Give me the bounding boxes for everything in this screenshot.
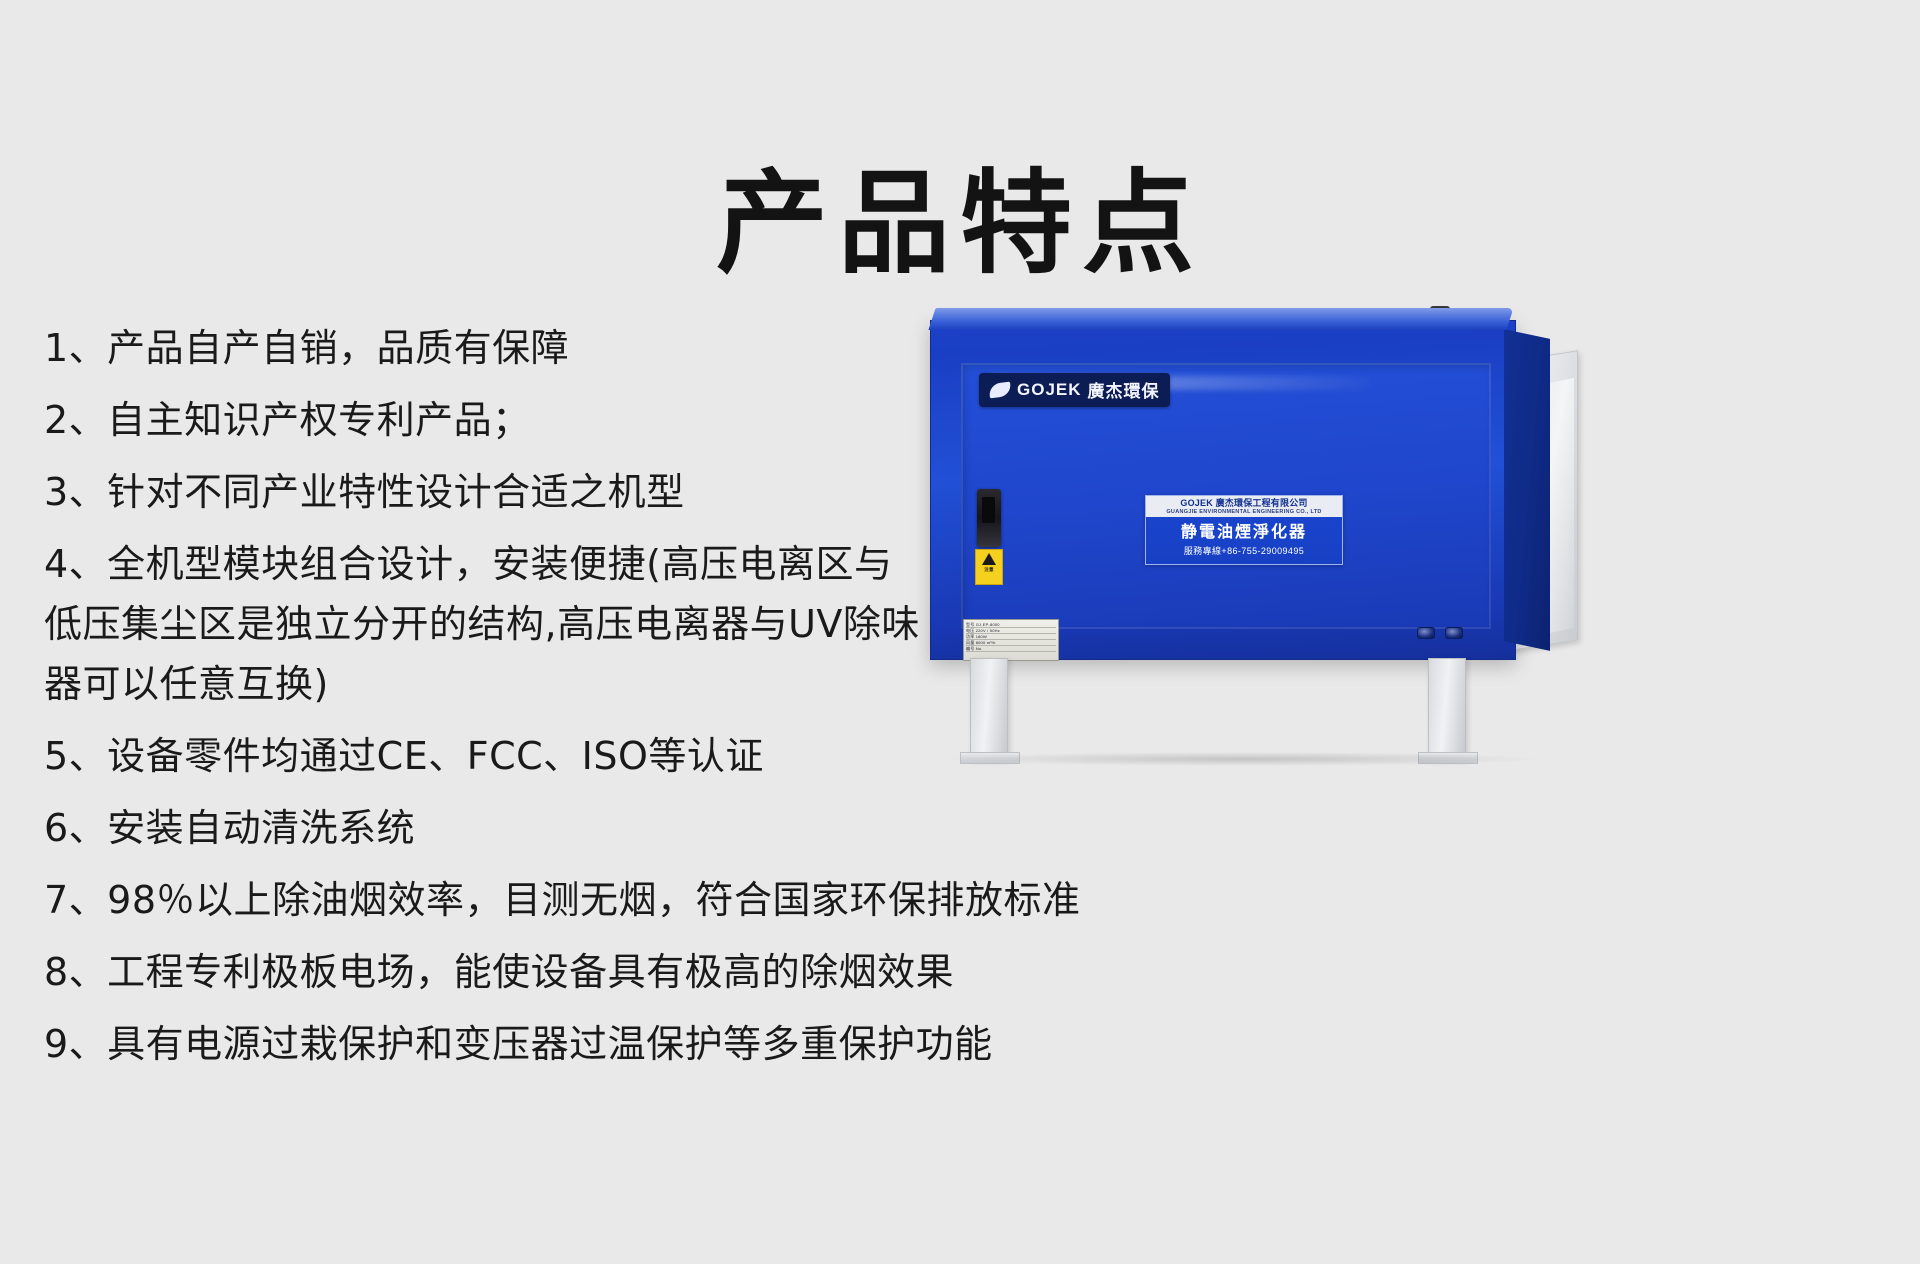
feature-item-7: 7、98％以上除油烟效率，目测无烟，符合国家环保排放标准 xyxy=(44,870,1124,930)
brand-badge-latin: GOJEK xyxy=(1017,380,1082,400)
support-leg-right xyxy=(1428,658,1466,760)
page-title: 产品特点 xyxy=(0,163,1920,286)
feature-item-1: 1、产品自产自销，品质有保障 xyxy=(44,318,924,378)
nameplate-product-name: 静電油煙淨化器 xyxy=(1146,517,1342,545)
warning-triangle-icon xyxy=(982,553,996,565)
ground-shadow xyxy=(948,752,1538,766)
feature-item-8: 8、工程专利极板电场，能使设备具有极高的除烟效果 xyxy=(44,942,1124,1002)
cabinet-body: GOJEK 廣杰環保 注意 GOJEK 廣杰環保工程有限公司 GUANGJIE … xyxy=(930,320,1516,660)
feature-item-6: 6、安装自动清洗系统 xyxy=(44,798,924,858)
feature-item-2: 2、自主知识产权专利产品； xyxy=(44,390,924,450)
outlet-port-left xyxy=(1417,627,1435,639)
nameplate-company: GOJEK 廣杰環保工程有限公司 GUANGJIE ENVIRONMENTAL … xyxy=(1146,496,1342,517)
nameplate: GOJEK 廣杰環保工程有限公司 GUANGJIE ENVIRONMENTAL … xyxy=(1145,495,1343,565)
door-handle[interactable] xyxy=(977,489,1001,547)
brand-badge: GOJEK 廣杰環保 xyxy=(979,373,1170,407)
support-leg-left xyxy=(970,658,1008,760)
warning-sticker-text: 注意 xyxy=(984,567,993,573)
nameplate-service-line: 服務專線+86-755-29009495 xyxy=(1146,545,1342,557)
feature-item-5: 5、设备零件均通过CE、FCC、ISO等认证 xyxy=(44,726,924,786)
product-features-slide: 产品特点 1、产品自产自销，品质有保障 2、自主知识产权专利产品； 3、针对不同… xyxy=(0,0,1920,1264)
spec-label: 型号 GJ-EP-8000 电压 220V / 50Hz 功率 180W 风量 … xyxy=(963,619,1059,661)
feature-item-9: 9、具有电源过栽保护和变压器过温保护等多重保护功能 xyxy=(44,1014,1124,1074)
feature-item-4: 4、全机型模块组合设计，安装便捷(高压电离区与低压集尘区是独立分开的结构,高压电… xyxy=(44,534,924,714)
cabinet-side-face xyxy=(1504,329,1550,651)
warning-sticker: 注意 xyxy=(975,549,1003,585)
brand-badge-chinese: 廣杰環保 xyxy=(1088,377,1160,402)
nameplate-company-cn: GOJEK 廣杰環保工程有限公司 xyxy=(1180,498,1307,508)
feature-item-3: 3、针对不同产业特性设计合适之机型 xyxy=(44,462,924,522)
outlet-port-right xyxy=(1445,627,1463,639)
spec-label-row: 编号 No. xyxy=(966,646,1056,652)
nameplate-company-en: GUANGJIE ENVIRONMENTAL ENGINEERING CO., … xyxy=(1146,509,1342,516)
cabinet-top-edge xyxy=(928,308,1513,330)
product-photo: GOJEK 廣杰環保 注意 GOJEK 廣杰環保工程有限公司 GUANGJIE … xyxy=(920,300,1620,770)
swoosh-icon xyxy=(988,381,1012,398)
